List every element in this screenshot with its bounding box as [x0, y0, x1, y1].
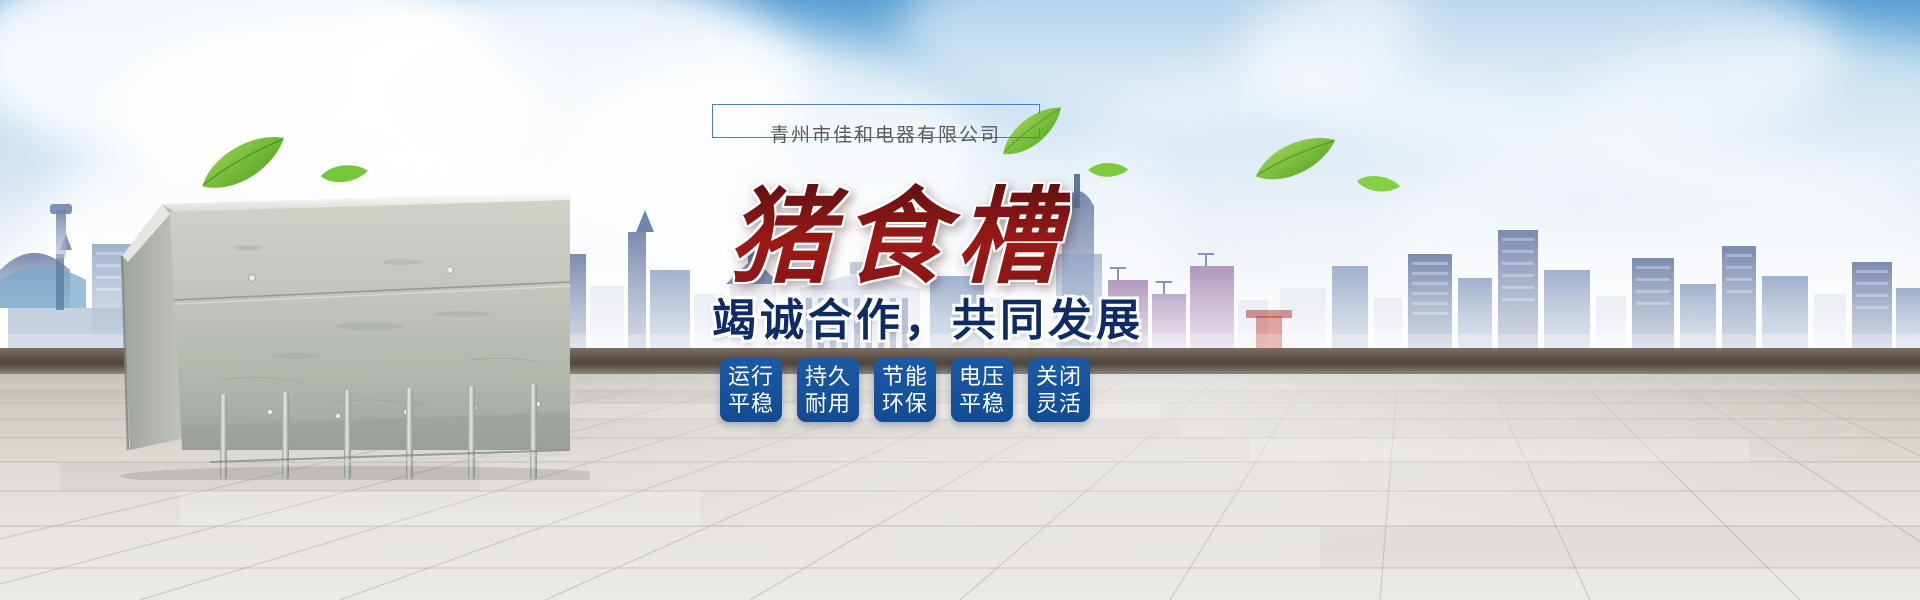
feature-tag[interactable]: 节能 环保: [874, 358, 936, 422]
feature-tag-line1: 电压: [959, 363, 1005, 391]
company-name-block: 青州市佳和电器有限公司: [700, 96, 1040, 152]
feature-tag-line2: 耐用: [805, 390, 851, 418]
feature-tag-line2: 环保: [882, 390, 928, 418]
feature-tag-list: 运行 平稳 持久 耐用 节能 环保 电压 平稳 关闭 灵活: [720, 358, 1090, 422]
banner-subtitle: 竭诚合作，共同发展: [712, 284, 1144, 348]
product-image-pig-feeder: [70, 150, 590, 480]
company-frame-corner-top: [1030, 104, 1040, 114]
feature-tag-line1: 关闭: [1036, 363, 1082, 391]
feature-tag[interactable]: 电压 平稳: [951, 358, 1013, 422]
feature-tag[interactable]: 关闭 灵活: [1028, 358, 1090, 422]
feature-tag-line1: 持久: [805, 363, 851, 391]
feature-tag-line1: 节能: [882, 363, 928, 391]
feature-tag-line2: 平稳: [959, 390, 1005, 418]
promo-banner: 青州市佳和电器有限公司 猪食槽 竭诚合作，共同发展 运行 平稳 持久 耐用 节能…: [0, 0, 1920, 600]
company-name: 青州市佳和电器有限公司: [766, 120, 1005, 147]
feature-tag-line2: 灵活: [1036, 390, 1082, 418]
feature-tag-line2: 平稳: [728, 390, 774, 418]
feature-tag-line1: 运行: [728, 363, 774, 391]
feature-tag[interactable]: 持久 耐用: [797, 358, 859, 422]
company-frame-corner-bottom: [1030, 128, 1040, 138]
banner-title: 猪食槽: [728, 152, 1070, 303]
banner-copy: 青州市佳和电器有限公司 猪食槽 竭诚合作，共同发展 运行 平稳 持久 耐用 节能…: [690, 96, 1250, 476]
feature-tag[interactable]: 运行 平稳: [720, 358, 782, 422]
